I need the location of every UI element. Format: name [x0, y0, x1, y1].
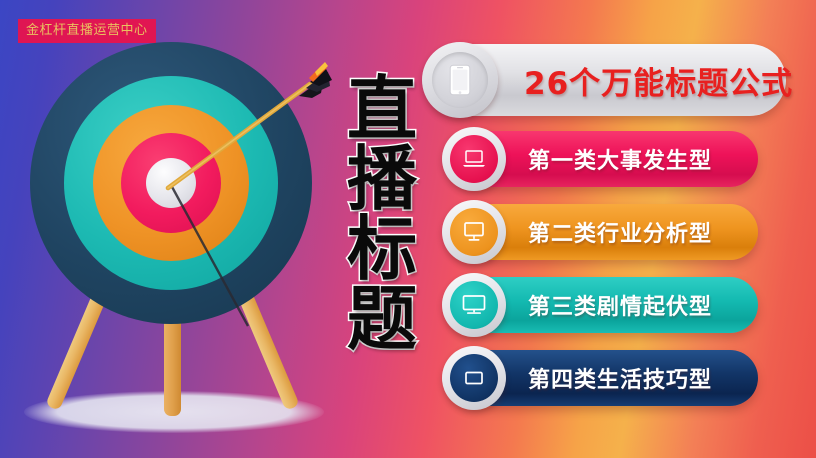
archery-target-illustration	[18, 36, 338, 436]
vertical-headline: 直 播 标 题	[336, 76, 428, 354]
smartphone-icon	[449, 64, 471, 96]
title-pill-label: 26个万能标题公式	[524, 58, 793, 103]
category-1-icon-inner	[450, 135, 498, 183]
category-pill-2[interactable]: 第二类行业分析型	[450, 204, 758, 260]
category-pill-4[interactable]: 第四类生活技巧型	[450, 350, 758, 406]
category-2-icon-inner	[450, 208, 498, 256]
headline-char-4: 题	[347, 286, 417, 354]
title-pill-icon-circle	[422, 42, 498, 118]
target-rings	[30, 42, 312, 324]
headline-char-1: 直	[347, 76, 417, 144]
category-pill-1[interactable]: 第一类大事发生型	[450, 131, 758, 187]
laptop-icon	[461, 149, 487, 169]
slide-canvas: 金杠杆直播运营中心 直	[0, 0, 816, 458]
title-pill[interactable]: 26个万能标题公式	[428, 44, 786, 116]
category-1-label: 第一类大事发生型	[528, 143, 712, 175]
category-3-label: 第三类剧情起伏型	[528, 289, 712, 321]
category-4-icon-ring	[442, 346, 506, 410]
category-4-icon-inner	[450, 354, 498, 402]
category-2-icon-ring	[442, 200, 506, 264]
category-1-icon-ring	[442, 127, 506, 191]
category-3-icon-inner	[450, 281, 498, 329]
category-2-label: 第二类行业分析型	[528, 216, 712, 248]
desktop-monitor-icon	[461, 221, 487, 243]
category-4-label: 第四类生活技巧型	[528, 362, 712, 394]
tv-monitor-icon	[460, 294, 488, 316]
target-bullseye	[146, 158, 196, 208]
screen-icon	[461, 369, 487, 387]
title-pill-icon-inner	[432, 52, 488, 108]
category-3-icon-ring	[442, 273, 506, 337]
category-pill-3[interactable]: 第三类剧情起伏型	[450, 277, 758, 333]
headline-char-3: 标	[347, 216, 417, 284]
headline-char-2: 播	[347, 146, 417, 214]
